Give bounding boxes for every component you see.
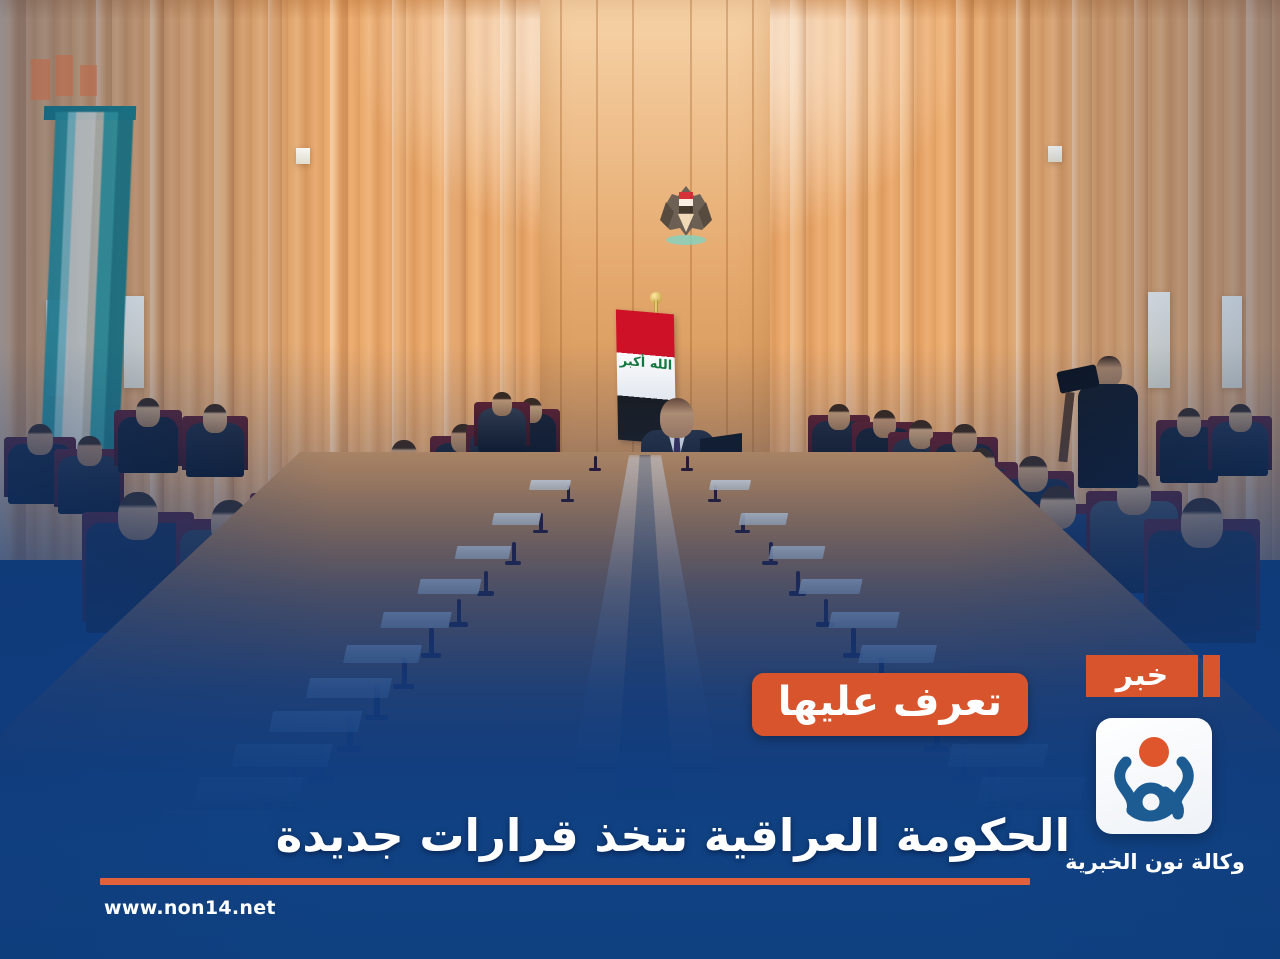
three-bars-watermark-icon <box>31 55 111 100</box>
teaser-badge[interactable]: تعرف عليها <box>752 673 1028 736</box>
news-label-badge: خبر <box>1086 655 1198 697</box>
news-card: الله أكبر تعرف عليها الحكومة العراقية تت <box>0 0 1280 959</box>
site-url[interactable]: www.non14.net <box>104 897 276 919</box>
divider-rule <box>100 878 1030 885</box>
orange-dot-icon <box>1139 737 1169 767</box>
noon-news-agency-logo[interactable] <box>1096 718 1212 834</box>
agency-name: وكالة نون الخبرية <box>1055 850 1255 874</box>
headline: الحكومة العراقية تتخذ قرارات جديدة <box>276 808 1070 864</box>
news-label-badge-tab <box>1203 655 1220 697</box>
